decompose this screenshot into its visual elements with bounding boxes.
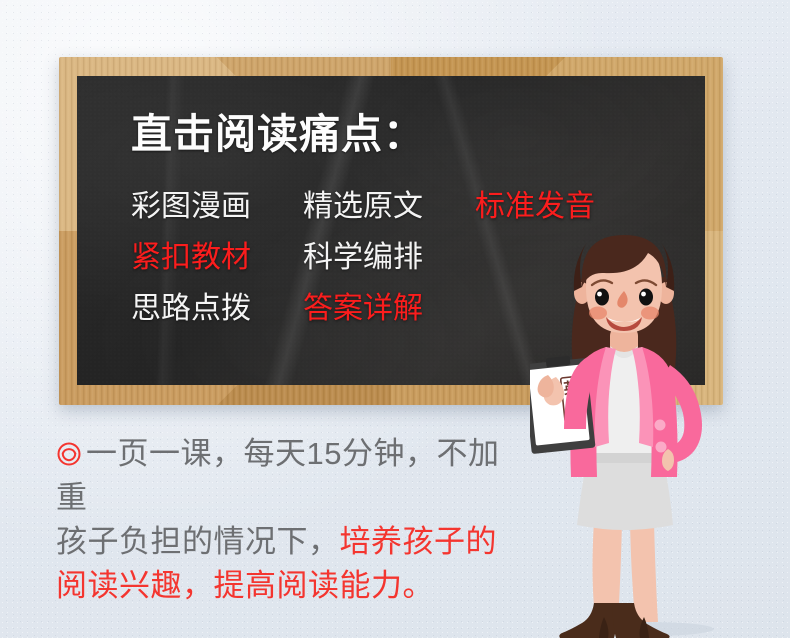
- promo-page: 直击阅读痛点： 彩图漫画 精选原文 标准发音 紧扣教材 科学编排 思路点拨 答案…: [0, 0, 790, 638]
- eye-left: [595, 289, 609, 306]
- caption-line-2-plain: 孩子负担的情况下，: [56, 524, 340, 559]
- feature-item-7: 思路点拨: [131, 294, 303, 324]
- caption-line-1: 一页一课，每天15分钟，不加重: [56, 436, 499, 515]
- caption-line-3-highlight: 阅读兴趣，提高阅读能力。: [56, 568, 434, 603]
- page-title: 直击阅读痛点：: [131, 112, 705, 157]
- feature-item-3: 标准发音: [475, 192, 647, 222]
- feature-item-4: 紧扣教材: [131, 243, 303, 273]
- feature-item-1: 彩图漫画: [131, 192, 303, 222]
- feature-item-5: 科学编排: [303, 243, 475, 273]
- teacher-illustration: 英 语: [530, 225, 790, 638]
- caption-line-2-highlight: 培养孩子的: [340, 524, 498, 559]
- caption-block: 一页一课，每天15分钟，不加重 孩子负担的情况下，培养孩子的 阅读兴趣，提高阅读…: [56, 432, 526, 608]
- cheek-right: [641, 307, 659, 320]
- target-circle-icon: [56, 435, 82, 461]
- feature-item-8: 答案详解: [303, 294, 475, 324]
- cheek-left: [589, 307, 607, 320]
- eye-right: [639, 289, 653, 306]
- feature-item-2: 精选原文: [303, 192, 475, 222]
